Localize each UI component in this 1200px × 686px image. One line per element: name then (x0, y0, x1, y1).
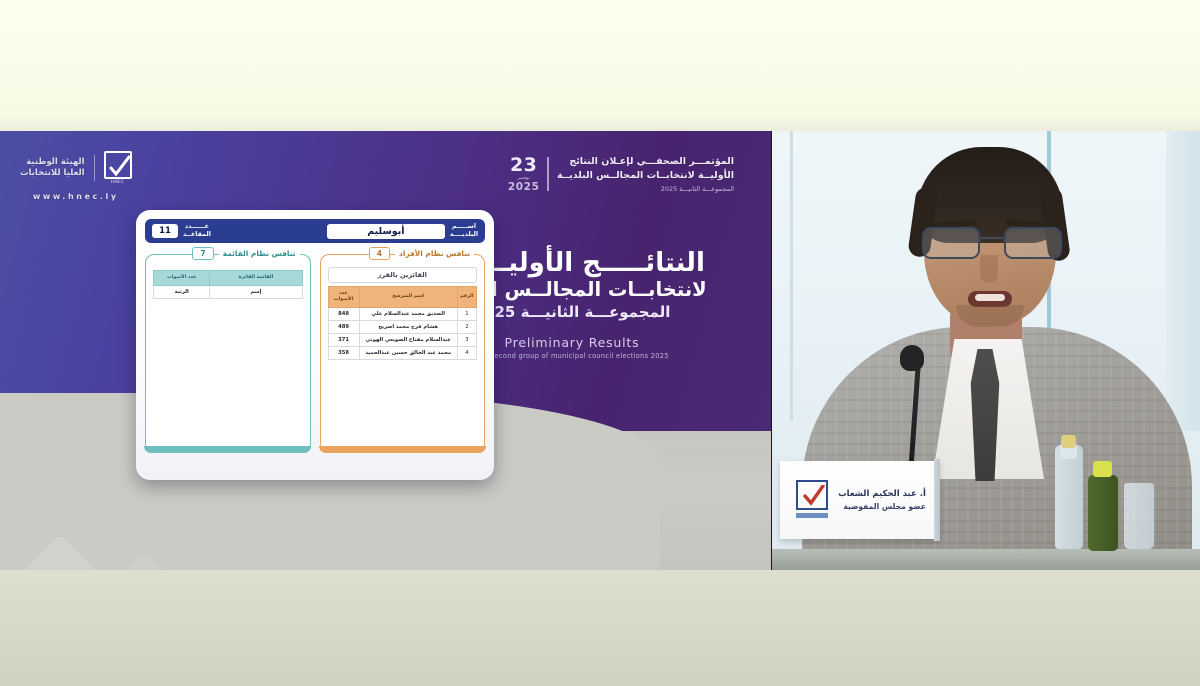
broadcast-screenshot: الهيئة الوطنية العليا للانتخابات HNEC ww… (0, 0, 1200, 686)
nameplate-logo (794, 480, 830, 520)
checkbox-ballot-icon (104, 151, 132, 179)
green-bottle-cap (1093, 461, 1112, 477)
checkbox-ballot-icon (796, 480, 828, 510)
results-graphic-panel: الهيئة الوطنية العليا للانتخابات HNEC ww… (0, 131, 772, 570)
conference-table (772, 549, 1200, 570)
municipality-label-line1: اســـــم (452, 223, 476, 230)
logo-mark-wrapper: HNEC (104, 151, 132, 185)
seats-label-line1: عــــــدد (185, 223, 209, 230)
col-header-candidate: اسم المترشح (359, 287, 457, 308)
microphone-head-icon (900, 345, 924, 371)
conference-date: 23 نوفمبر 2025 (508, 156, 540, 193)
individual-panel-inner: الفائزين بالفرز الرقم اسم المترشح عدد ال… (321, 255, 485, 360)
logo-arabic-text: الهيئة الوطنية العليا للانتخابات (20, 157, 85, 179)
individual-table-caption: الفائزين بالفرز (328, 267, 478, 283)
candidate-votes: 489 (328, 320, 359, 333)
list-header-row: القائمة الفائزة عدد الأصوات (154, 271, 303, 286)
list-title-text: تنافس نظام القائمة (219, 249, 300, 258)
backdrop-seam (790, 131, 793, 421)
results-card: اســـــم البلديــــة أبوسليم عــــــدد ا… (136, 210, 494, 480)
candidate-votes: 848 (328, 307, 359, 320)
conference-separator (547, 157, 549, 191)
individual-title-text: تنافس نظام الأفراد (395, 249, 474, 258)
speaker-nose (980, 255, 998, 283)
letterbox-bottom (0, 570, 1200, 686)
col-header-winning-list: القائمة الفائزة (210, 271, 302, 286)
broadcast-frame: الهيئة الوطنية العليا للانتخابات HNEC ww… (0, 131, 1200, 570)
logo-arabic-line2: العليا للانتخابات (20, 168, 85, 179)
list-table-head: القائمة الفائزة عدد الأصوات (154, 271, 303, 286)
conference-header-text: المؤتمـــر الصحفـــي لإعـلان النتائج الأ… (557, 155, 734, 194)
candidate-name: هشام فرج محمد اصريح (359, 320, 457, 333)
seats-group: عــــــدد المقاعــد 11 (152, 223, 211, 239)
glasses-lens-left (922, 227, 980, 259)
glasses-bridge (979, 237, 1005, 239)
hnec-logo: الهيئة الوطنية العليا للانتخابات HNEC ww… (20, 151, 132, 201)
candidate-votes: 358 (328, 346, 359, 359)
candidate-name: الصديق محمد عبدالسلام علي (359, 307, 457, 320)
candidate-num: 2 (457, 320, 476, 333)
nameplate: أ. عبد الحكيم الشعاب عضو مجلس المفوضية (780, 461, 940, 539)
seats-label: عــــــدد المقاعــد (183, 223, 211, 239)
list-system-panel: تنافس نظام القائمة 7 القائمة الفائزة عدد… (145, 254, 311, 452)
individual-header-row: الرقم اسم المترشح عدد الأصوات (328, 287, 477, 308)
letterbox-top (0, 0, 1200, 131)
list-votes: الرتبة (154, 285, 210, 298)
list-name: إسم (210, 285, 302, 298)
nameplate-text: أ. عبد الحكيم الشعاب عضو مجلس المفوضية (838, 488, 926, 512)
table-row: 2هشام فرج محمد اصريح489 (328, 320, 477, 333)
speaker-teeth (975, 294, 1005, 301)
candidate-num: 3 (457, 333, 476, 346)
col-header-list-votes: عدد الأصوات (154, 271, 210, 286)
list-panel-title: تنافس نظام القائمة 7 (152, 247, 304, 260)
list-count-badge: 7 (192, 247, 213, 260)
backdrop-right-column (1166, 131, 1200, 431)
water-bottle (1055, 445, 1083, 549)
conference-line-1: المؤتمـــر الصحفـــي لإعـلان النتائج (557, 155, 734, 169)
card-header: اســـــم البلديــــة أبوسليم عــــــدد ا… (145, 219, 485, 243)
candidate-name: عبدالسلام مفتاح الصويعي الهوني (359, 333, 457, 346)
water-bottle-cap (1061, 435, 1076, 448)
col-header-votes: عدد الأصوات (328, 287, 359, 308)
conference-day: 23 (508, 156, 540, 175)
list-table-body: إسمالرتبة (154, 285, 303, 298)
municipality-group: اســـــم البلديــــة أبوسليم (327, 223, 478, 239)
candidate-num: 4 (457, 346, 476, 359)
logo-arabic-line1: الهيئة الوطنية (20, 157, 85, 168)
logo-row: الهيئة الوطنية العليا للانتخابات HNEC (20, 151, 132, 185)
col-header-number: الرقم (457, 287, 476, 308)
seats-value: 11 (152, 224, 178, 238)
conference-year: 2025 (508, 182, 540, 193)
seats-label-line2: المقاعــد (183, 231, 211, 238)
conference-line-2: الأوليــة لانتخابــات المجالــس البلديــ… (557, 169, 734, 183)
nameplate-name: أ. عبد الحكيم الشعاب (838, 488, 926, 501)
nameplate-logo-caption (796, 513, 828, 518)
glasses-lens-right (1004, 227, 1062, 259)
table-row: إسمالرتبة (154, 285, 303, 298)
candidate-num: 1 (457, 307, 476, 320)
candidate-votes: 371 (328, 333, 359, 346)
table-row: 1الصديق محمد عبدالسلام علي848 (328, 307, 477, 320)
individual-table-body: 1الصديق محمد عبدالسلام علي8482هشام فرج م… (328, 307, 477, 359)
logo-divider (94, 155, 95, 181)
website-url: www.hnec.ly (33, 192, 119, 201)
logo-mark-caption: HNEC (104, 180, 132, 185)
individual-panel-title: تنافس نظام الأفراد 4 (327, 247, 479, 260)
drinking-glass (1124, 483, 1154, 549)
nameplate-role: عضو مجلس المفوضية (838, 501, 926, 512)
list-results-table: القائمة الفائزة عدد الأصوات إسمالرتبة (153, 270, 303, 299)
list-panel-inner: القائمة الفائزة عدد الأصوات إسمالرتبة (146, 255, 310, 299)
municipality-label-line2: البلديــــة (450, 231, 478, 238)
individual-count-badge: 4 (369, 247, 390, 260)
municipality-value: أبوسليم (327, 224, 445, 239)
table-row: 3عبدالسلام مفتاح الصويعي الهوني371 (328, 333, 477, 346)
card-body: تنافس نظام الأفراد 4 الفائزين بالفرز الر… (145, 254, 485, 452)
municipality-label: اســـــم البلديــــة (450, 223, 478, 239)
nameplate-edge (934, 459, 940, 541)
table-row: 4محمد عبد الخالق حسين عبدالحميد358 (328, 346, 477, 359)
individual-table-head: الرقم اسم المترشح عدد الأصوات (328, 287, 477, 308)
video-feed-panel: أ. عبد الحكيم الشعاب عضو مجلس المفوضية (772, 131, 1200, 570)
green-bottle (1088, 475, 1118, 551)
individual-system-panel: تنافس نظام الأفراد 4 الفائزين بالفرز الر… (320, 254, 486, 452)
candidate-name: محمد عبد الخالق حسين عبدالحميد (359, 346, 457, 359)
conference-header: المؤتمـــر الصحفـــي لإعـلان النتائج الأ… (508, 155, 734, 194)
individual-results-table: الرقم اسم المترشح عدد الأصوات 1الصديق مح… (328, 286, 478, 360)
conference-line-3: المجموعـــة الثانيـــة 2025 (557, 184, 734, 194)
